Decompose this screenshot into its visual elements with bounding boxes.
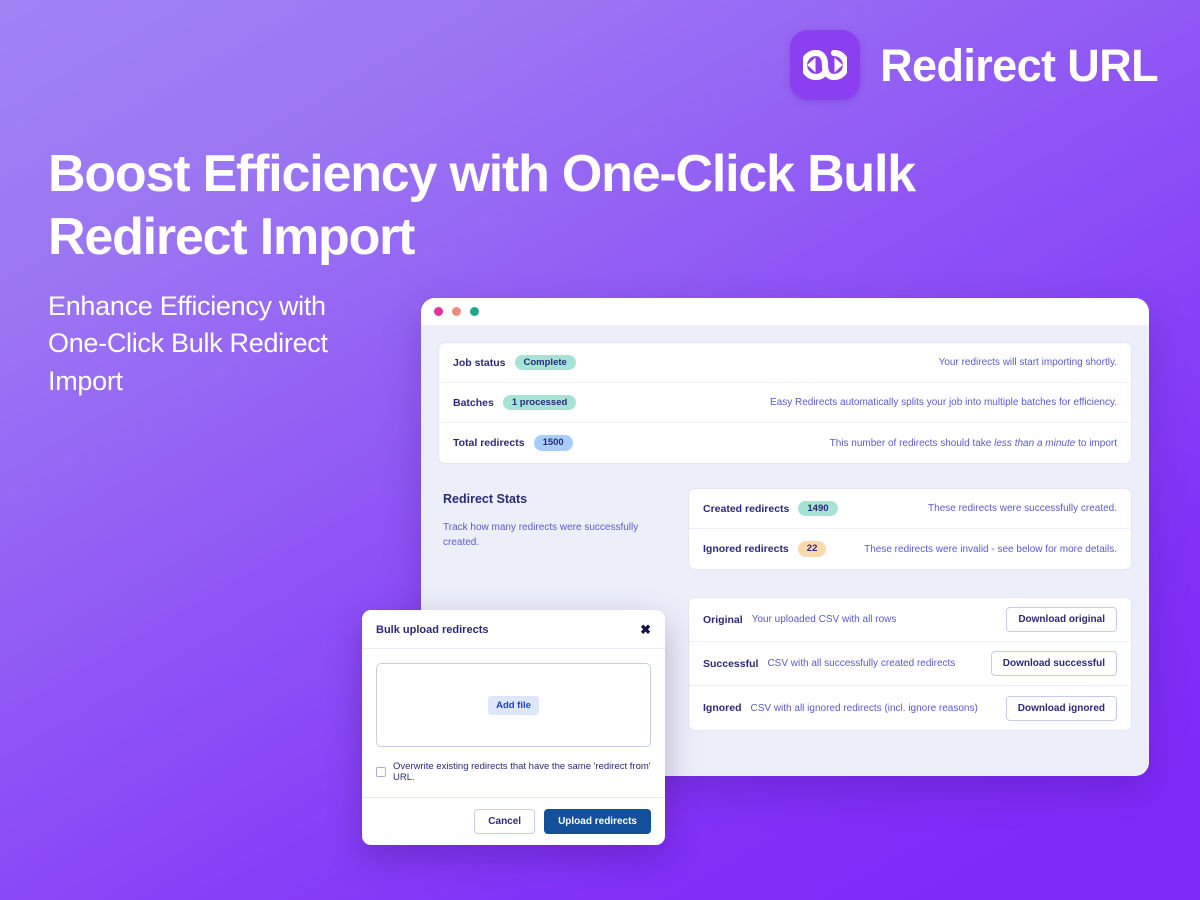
overwrite-checkbox[interactable]	[376, 767, 386, 777]
download-successful-description: CSV with all successfully created redire…	[767, 658, 955, 669]
download-ignored-description: CSV with all ignored redirects (incl. ig…	[751, 703, 978, 714]
modal-title: Bulk upload redirects	[376, 624, 488, 636]
download-ignored-button[interactable]: Download ignored	[1006, 696, 1117, 721]
total-note-emphasis: less than a minute	[994, 438, 1075, 449]
ignored-redirects-badge: 22	[798, 541, 827, 557]
download-original-row: Original Your uploaded CSV with all rows…	[689, 598, 1131, 642]
window-close-dot[interactable]	[434, 307, 443, 316]
modal-body: Add file Overwrite existing redirects th…	[362, 649, 665, 797]
download-successful-label: Successful	[703, 658, 758, 670]
created-redirects-note: These redirects were successfully create…	[928, 503, 1117, 514]
overwrite-label: Overwrite existing redirects that have t…	[393, 761, 651, 783]
job-status-note: Your redirects will start importing shor…	[939, 357, 1117, 368]
window-titlebar	[421, 298, 1149, 325]
batches-label: Batches	[453, 397, 494, 409]
downloads-card: Original Your uploaded CSV with all rows…	[688, 597, 1132, 731]
total-note-prefix: This number of redirects should take	[830, 438, 995, 449]
redirect-stats-info: Redirect Stats Track how many redirects …	[438, 488, 688, 550]
download-original-label: Original	[703, 614, 743, 626]
file-dropzone[interactable]: Add file	[376, 663, 651, 747]
ignored-redirects-row: Ignored redirects 22 These redirects wer…	[689, 529, 1131, 569]
infinity-loop-arrows-icon	[803, 50, 847, 80]
batches-row: Batches 1 processed Easy Redirects autom…	[439, 383, 1131, 423]
job-status-label: Job status	[453, 357, 506, 369]
modal-footer: Cancel Upload redirects	[362, 797, 665, 845]
download-successful-row: Successful CSV with all successfully cre…	[689, 642, 1131, 686]
batches-note: Easy Redirects automatically splits your…	[770, 397, 1117, 408]
upload-redirects-button[interactable]: Upload redirects	[544, 809, 651, 834]
redirect-stats-title: Redirect Stats	[443, 492, 666, 506]
brand-logo-mark	[790, 30, 860, 100]
downloads-section: Original Your uploaded CSV with all rows…	[688, 597, 1132, 731]
total-redirects-label: Total redirects	[453, 437, 525, 449]
page-subtitle: Enhance Efficiency with One-Click Bulk R…	[48, 288, 378, 400]
modal-header: Bulk upload redirects ✖	[362, 610, 665, 649]
bulk-upload-modal: Bulk upload redirects ✖ Add file Overwri…	[362, 610, 665, 845]
redirect-stats-card: Created redirects 1490 These redirects w…	[688, 488, 1132, 570]
total-redirects-note: This number of redirects should take les…	[830, 438, 1117, 449]
download-ignored-label: Ignored	[703, 702, 742, 714]
redirect-stats-card-wrap: Created redirects 1490 These redirects w…	[688, 488, 1132, 570]
close-icon[interactable]: ✖	[640, 623, 651, 636]
download-successful-button[interactable]: Download successful	[991, 651, 1117, 676]
created-redirects-badge: 1490	[798, 501, 837, 517]
created-redirects-row: Created redirects 1490 These redirects w…	[689, 489, 1131, 529]
overwrite-option: Overwrite existing redirects that have t…	[376, 761, 651, 783]
brand-header: Redirect URL	[790, 30, 1158, 100]
redirect-stats-section: Redirect Stats Track how many redirects …	[438, 488, 1132, 570]
job-status-badge: Complete	[515, 355, 576, 371]
created-redirects-label: Created redirects	[703, 503, 789, 515]
redirect-stats-description: Track how many redirects were successful…	[443, 520, 666, 550]
brand-name: Redirect URL	[880, 43, 1158, 88]
ignored-redirects-note: These redirects were invalid - see below…	[864, 544, 1117, 555]
job-summary-card: Job status Complete Your redirects will …	[438, 342, 1132, 464]
window-maximize-dot[interactable]	[470, 307, 479, 316]
page-title: Boost Efficiency with One-Click Bulk Red…	[48, 143, 928, 270]
total-redirects-row: Total redirects 1500 This number of redi…	[439, 423, 1131, 463]
ignored-redirects-label: Ignored redirects	[703, 543, 789, 555]
batches-badge: 1 processed	[503, 395, 576, 411]
window-minimize-dot[interactable]	[452, 307, 461, 316]
total-note-suffix: to import	[1075, 438, 1117, 449]
download-original-button[interactable]: Download original	[1006, 607, 1117, 632]
download-ignored-row: Ignored CSV with all ignored redirects (…	[689, 686, 1131, 730]
download-original-description: Your uploaded CSV with all rows	[752, 614, 897, 625]
add-file-button[interactable]: Add file	[488, 696, 539, 715]
job-status-row: Job status Complete Your redirects will …	[439, 343, 1131, 383]
cancel-button[interactable]: Cancel	[474, 809, 535, 834]
total-redirects-badge: 1500	[534, 435, 573, 451]
